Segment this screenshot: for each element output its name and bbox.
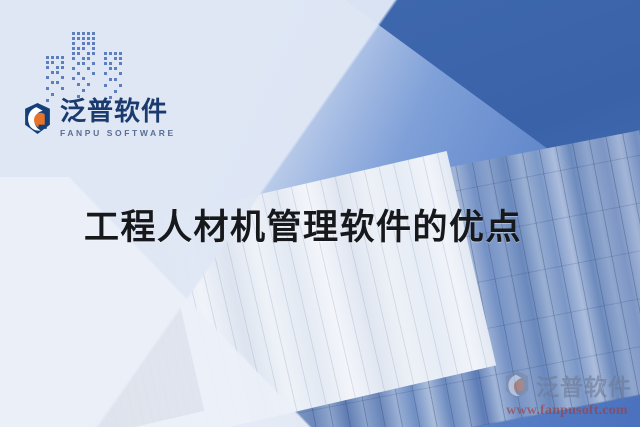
fanpu-watermark-mark xyxy=(502,370,532,400)
watermark-row: 泛普软件 xyxy=(502,368,632,402)
watermark: 泛普软件 www.fanpusoft.com xyxy=(502,368,632,419)
brand-name-cn: 泛普软件 xyxy=(60,99,176,125)
dot-matrix-skyline-graphic xyxy=(38,26,138,106)
fanpu-logo-mark xyxy=(21,102,54,135)
brand-name-en: FANPU SOFTWARE xyxy=(60,129,176,138)
watermark-brand-name: 泛普软件 xyxy=(536,368,632,402)
watermark-url: www.fanpusoft.com xyxy=(506,403,628,419)
page-title: 工程人材机管理软件的优点 xyxy=(84,199,522,250)
brand-logo: 泛普软件 FANPU SOFTWARE xyxy=(21,99,176,138)
brand-logo-text: 泛普软件 FANPU SOFTWARE xyxy=(60,99,176,138)
promo-banner: 泛普软件 FANPU SOFTWARE 工程人材机管理软件的优点 泛普软件 ww… xyxy=(0,0,640,427)
